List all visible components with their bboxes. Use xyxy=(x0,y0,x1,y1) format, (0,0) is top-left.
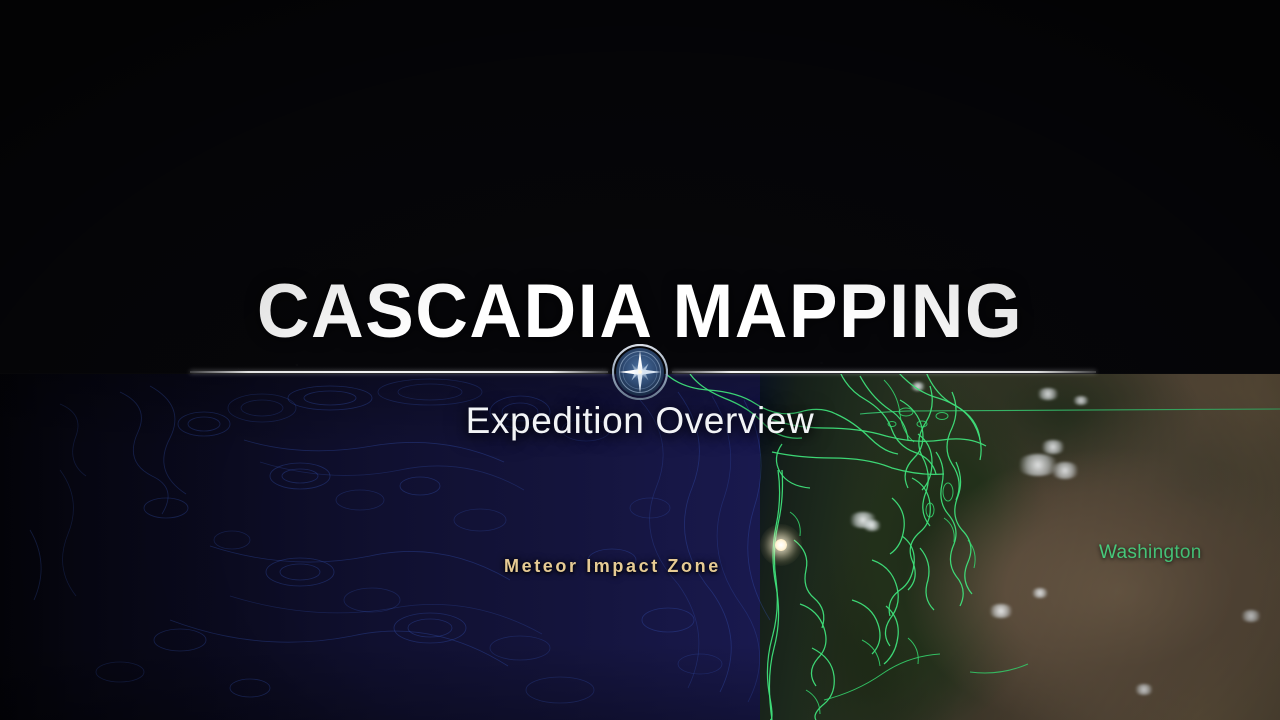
bathymetry-contours xyxy=(30,379,770,703)
star xyxy=(241,201,242,202)
star xyxy=(215,345,216,346)
star xyxy=(400,10,401,11)
star xyxy=(533,92,535,94)
impact-point-marker[interactable] xyxy=(771,535,791,555)
star xyxy=(196,17,197,18)
star xyxy=(712,288,713,289)
star xyxy=(857,78,859,80)
star xyxy=(215,102,217,104)
star xyxy=(306,94,307,95)
star xyxy=(55,230,56,231)
star xyxy=(333,140,334,141)
star xyxy=(1266,354,1267,355)
star xyxy=(29,370,30,371)
star xyxy=(238,368,239,369)
star xyxy=(514,113,516,115)
star xyxy=(351,214,352,215)
star xyxy=(1224,283,1225,284)
star xyxy=(797,230,798,231)
star xyxy=(84,342,85,343)
star xyxy=(399,217,400,218)
star xyxy=(383,182,384,183)
star xyxy=(1006,99,1008,101)
star xyxy=(494,268,495,269)
star xyxy=(494,238,495,239)
star xyxy=(642,15,644,17)
star xyxy=(785,183,787,185)
star xyxy=(900,105,902,107)
star xyxy=(41,206,42,207)
star xyxy=(980,227,981,228)
star xyxy=(786,257,788,259)
star xyxy=(48,127,49,128)
star xyxy=(261,320,262,321)
star xyxy=(505,272,506,273)
star xyxy=(190,101,191,102)
star xyxy=(1201,338,1202,339)
star xyxy=(1251,295,1253,297)
star xyxy=(1218,258,1219,259)
star xyxy=(174,304,175,305)
star xyxy=(942,287,943,288)
map-label-washington[interactable]: Washington xyxy=(1099,542,1202,564)
star xyxy=(195,170,196,171)
star xyxy=(400,6,401,7)
star xyxy=(518,236,519,237)
coastline-vancouver-island xyxy=(664,372,981,474)
star xyxy=(34,129,35,130)
slide-canvas: Meteor Impact Zone Washington CASCADIA M… xyxy=(0,0,1280,720)
star xyxy=(491,346,492,347)
star xyxy=(163,121,164,122)
star xyxy=(354,276,355,277)
star xyxy=(493,350,494,351)
star xyxy=(690,86,691,87)
star xyxy=(1173,333,1174,334)
star xyxy=(69,188,70,189)
map-label-meteor-impact-zone[interactable]: Meteor Impact Zone xyxy=(504,556,721,577)
star xyxy=(939,19,941,21)
star xyxy=(1097,42,1099,44)
star xyxy=(217,39,218,40)
star xyxy=(531,100,532,101)
star xyxy=(454,163,455,164)
star xyxy=(1011,351,1012,352)
star xyxy=(388,34,389,35)
star xyxy=(1072,37,1074,39)
star xyxy=(193,129,194,130)
star xyxy=(83,228,84,229)
star xyxy=(485,39,486,40)
star xyxy=(538,79,540,81)
star xyxy=(549,73,551,75)
star xyxy=(232,217,233,218)
star xyxy=(827,179,828,180)
star xyxy=(1065,170,1066,171)
star xyxy=(296,364,298,366)
star xyxy=(294,357,295,358)
star xyxy=(872,343,873,344)
star xyxy=(978,169,979,170)
star xyxy=(228,330,229,331)
star xyxy=(68,135,70,137)
star xyxy=(1087,297,1088,298)
star xyxy=(998,160,1000,162)
national-border-line-west xyxy=(860,411,908,414)
star xyxy=(614,360,615,361)
star xyxy=(839,335,840,336)
coastline-juan-de-fuca xyxy=(768,418,986,488)
star xyxy=(173,355,174,356)
star xyxy=(177,91,178,92)
star xyxy=(744,32,745,33)
star xyxy=(1099,205,1100,206)
star xyxy=(631,15,632,16)
star xyxy=(1144,65,1145,66)
star xyxy=(555,96,556,97)
star xyxy=(820,362,822,364)
star xyxy=(1037,198,1038,199)
star xyxy=(990,276,991,277)
star xyxy=(478,147,479,148)
star xyxy=(150,41,151,42)
star xyxy=(338,109,340,111)
star xyxy=(443,217,445,219)
star xyxy=(1026,132,1028,134)
star xyxy=(223,222,224,223)
star xyxy=(1060,223,1061,224)
star xyxy=(169,281,170,282)
star xyxy=(66,341,67,342)
marker-core xyxy=(775,539,787,551)
star xyxy=(980,205,982,207)
star xyxy=(212,110,213,111)
star xyxy=(200,190,201,191)
star xyxy=(37,190,39,192)
title-scrim-overlay xyxy=(0,0,1280,373)
star xyxy=(248,169,250,171)
star xyxy=(702,127,703,128)
star xyxy=(730,136,732,138)
star xyxy=(205,247,206,248)
star xyxy=(623,72,624,73)
star xyxy=(518,318,519,319)
star xyxy=(708,269,709,270)
star xyxy=(834,348,835,349)
star xyxy=(449,144,451,146)
coastline-puget-sound xyxy=(852,386,975,666)
star xyxy=(1255,170,1256,171)
star xyxy=(1008,73,1010,75)
star xyxy=(641,17,642,18)
star xyxy=(961,152,962,153)
star xyxy=(848,34,849,35)
star xyxy=(1034,309,1035,310)
star xyxy=(278,237,279,238)
star xyxy=(695,131,697,133)
star xyxy=(602,368,603,369)
star xyxy=(655,25,657,27)
coastline-pacific-outer xyxy=(767,470,834,720)
star xyxy=(1055,183,1056,184)
star xyxy=(970,198,971,199)
star xyxy=(1136,311,1138,313)
star xyxy=(978,224,979,225)
star xyxy=(899,149,900,150)
star xyxy=(78,188,79,189)
star xyxy=(764,273,765,274)
star xyxy=(904,32,905,33)
star xyxy=(874,264,875,265)
star xyxy=(178,264,180,266)
star xyxy=(309,137,310,138)
star xyxy=(78,44,80,46)
star xyxy=(1137,64,1138,65)
star xyxy=(1103,306,1104,307)
star xyxy=(630,3,631,4)
starfield-background xyxy=(0,0,1280,374)
inland-waterways xyxy=(824,654,1028,700)
star xyxy=(988,300,989,301)
star xyxy=(446,164,448,166)
star xyxy=(1159,111,1160,112)
star xyxy=(1091,59,1093,61)
star xyxy=(507,123,508,124)
star xyxy=(279,17,280,18)
star xyxy=(337,296,339,298)
star xyxy=(1243,182,1244,183)
star xyxy=(174,344,175,345)
star xyxy=(494,174,495,175)
star xyxy=(999,273,1000,274)
star xyxy=(397,297,398,298)
star xyxy=(1238,274,1239,275)
star xyxy=(649,335,650,336)
star xyxy=(1190,203,1191,204)
star xyxy=(545,267,546,268)
star xyxy=(82,7,83,8)
